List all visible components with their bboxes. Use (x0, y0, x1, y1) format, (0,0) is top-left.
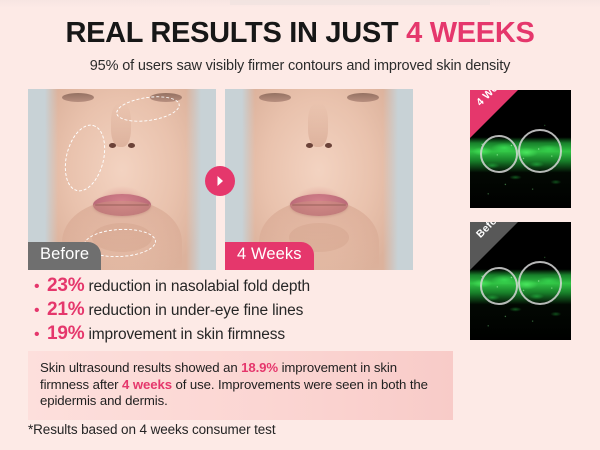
nostril-left (306, 143, 313, 148)
marketing-infographic: REAL RESULTS IN JUST 4 WEEKS 95% of user… (0, 0, 600, 450)
bullet-icon: • (34, 327, 47, 343)
callout-text-part1: Skin ultrasound results showed an (40, 360, 241, 375)
ultrasound-image-before: Before (470, 222, 571, 340)
nostril-right (325, 143, 332, 148)
eye-left (259, 93, 291, 102)
lips (93, 194, 151, 216)
headline-accent: 4 WEEKS (406, 17, 534, 49)
after-photo-caption: 4 Weeks (225, 242, 314, 270)
stat-value: 19% (47, 323, 84, 345)
top-edge-highlight (230, 0, 490, 5)
list-item: • 19% improvement in skin firmness (34, 323, 454, 347)
headline-lead: REAL RESULTS IN JUST (65, 17, 406, 49)
stat-value: 21% (47, 299, 84, 321)
ultrasound-marker-circle-1 (480, 135, 518, 173)
eye-right (347, 93, 379, 102)
ultrasound-summary-callout: Skin ultrasound results showed an 18.9% … (28, 351, 453, 420)
stat-label: reduction in under-eye fine lines (88, 302, 303, 320)
nostril-right (128, 143, 135, 148)
stat-value: 23% (47, 275, 84, 297)
callout-highlight-duration: 4 weeks (122, 377, 172, 392)
stat-label: reduction in nasolabial fold depth (88, 278, 310, 296)
lips (290, 194, 348, 216)
footnote: *Results based on 4 weeks consumer test (28, 422, 275, 437)
ultrasound-marker-circle-2 (518, 129, 562, 173)
bullet-icon: • (34, 303, 47, 319)
ultrasound-marker-circle-2 (518, 261, 562, 305)
subtitle: 95% of users saw visibly firmer contours… (0, 58, 600, 74)
stat-label: improvement in skin firmness (88, 326, 285, 344)
callout-highlight-percent: 18.9% (241, 360, 278, 375)
after-photo: 4 Weeks (225, 89, 413, 270)
ultrasound-marker-circle-1 (480, 267, 518, 305)
chevron-right-icon (205, 166, 235, 196)
results-stat-list: • 23% reduction in nasolabial fold depth… (34, 275, 454, 347)
list-item: • 23% reduction in nasolabial fold depth (34, 275, 454, 299)
nostril-left (109, 143, 116, 148)
page-title: REAL RESULTS IN JUST 4 WEEKS (0, 17, 600, 50)
list-item: • 21% reduction in under-eye fine lines (34, 299, 454, 323)
before-photo: Before (28, 89, 216, 270)
bullet-icon: • (34, 279, 47, 295)
nose-shadow (308, 103, 329, 146)
before-photo-caption: Before (28, 242, 101, 270)
ultrasound-image-after: 4 Weeks (470, 90, 571, 208)
eye-left (62, 93, 94, 102)
